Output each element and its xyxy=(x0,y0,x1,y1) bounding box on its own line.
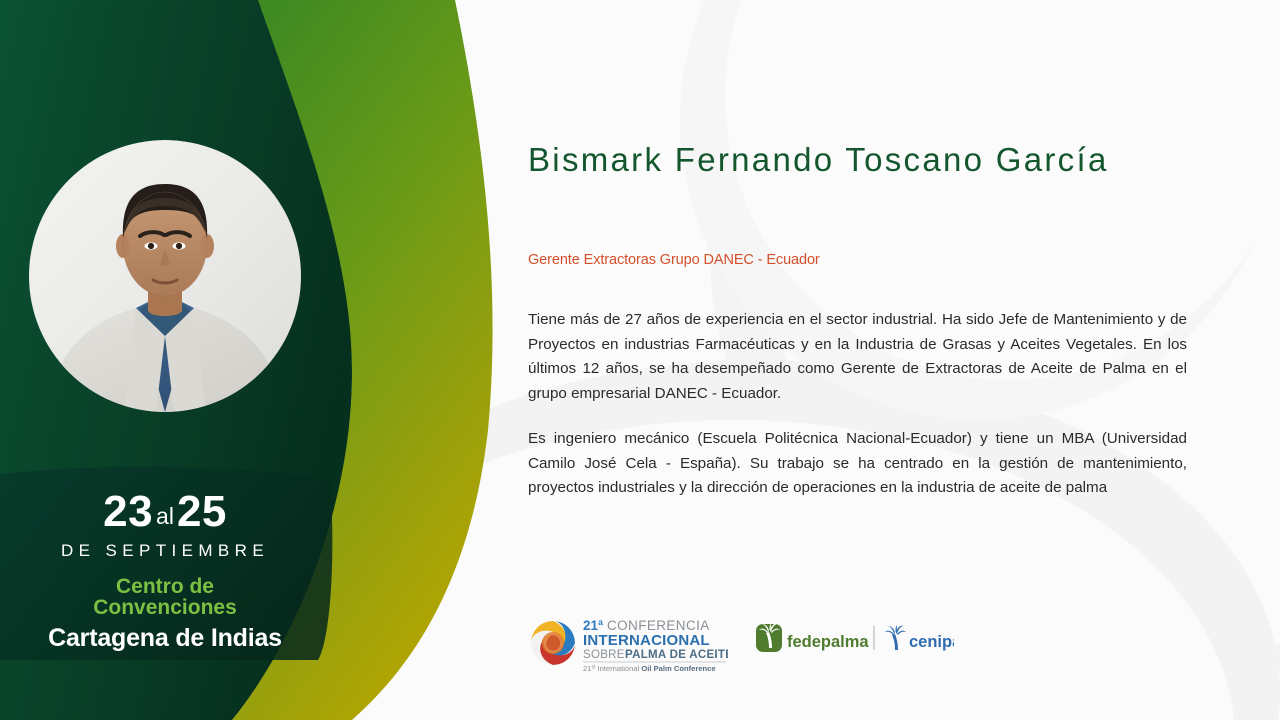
bio-paragraph: Tiene más de 27 años de experiencia en e… xyxy=(528,308,1187,406)
organization-logos: fedepalma cenipalma xyxy=(754,618,954,669)
cenipalma-logo: cenipalma xyxy=(885,625,954,651)
speaker-profile-slide: 23al25 DE SEPTIEMBRE Centro de Convencio… xyxy=(0,0,1280,720)
conference-line2: INTERNACIONAL xyxy=(583,632,710,649)
event-month: DE SEPTIEMBRE xyxy=(0,541,330,561)
speaker-name: Bismark Fernando Toscano García xyxy=(528,140,1128,180)
conference-subtitle: 21st International Oil Palm Conference xyxy=(583,664,716,673)
speaker-bio: Tiene más de 27 años de experiencia en e… xyxy=(528,308,1187,501)
conference-line3-prefix: SOBRE xyxy=(583,649,625,661)
conference-logo: 21ª CONFERENCIA INTERNACIONAL SOBRE PALM… xyxy=(528,613,728,678)
event-date-block: 23al25 DE SEPTIEMBRE Centro de Convencio… xyxy=(0,468,330,658)
event-city: Cartagena de Indias xyxy=(0,624,330,653)
event-day-from: 23 xyxy=(103,487,153,536)
speaker-role: Gerente Extractoras Grupo DANEC - Ecuado… xyxy=(528,252,1188,268)
conference-line3-bold: PALMA DE ACEITE xyxy=(625,649,728,661)
conference-edition: 21ª xyxy=(583,618,603,633)
event-venue-line2: Convenciones xyxy=(0,598,330,619)
event-day-to: 25 xyxy=(177,487,227,536)
speaker-photo xyxy=(28,140,302,412)
cenipalma-name: cenipalma xyxy=(909,633,954,651)
event-day-joiner: al xyxy=(153,503,177,529)
event-venue: Centro de Convenciones xyxy=(0,577,330,618)
bio-paragraph: Es ingeniero mecánico (Escuela Politécni… xyxy=(528,427,1187,501)
swirl-icon xyxy=(531,621,575,665)
palm-icon xyxy=(885,625,906,650)
event-venue-line1: Centro de xyxy=(0,577,330,598)
logo-row: 21ª CONFERENCIA INTERNACIONAL SOBRE PALM… xyxy=(528,608,958,680)
conference-line1: CONFERENCIA xyxy=(607,618,710,633)
conference-logo-text: 21ª CONFERENCIA INTERNACIONAL SOBRE PALM… xyxy=(583,618,728,673)
event-dates: 23al25 xyxy=(0,490,330,534)
fedepalma-name: fedepalma xyxy=(787,633,869,651)
fedepalma-logo: fedepalma xyxy=(756,623,869,652)
